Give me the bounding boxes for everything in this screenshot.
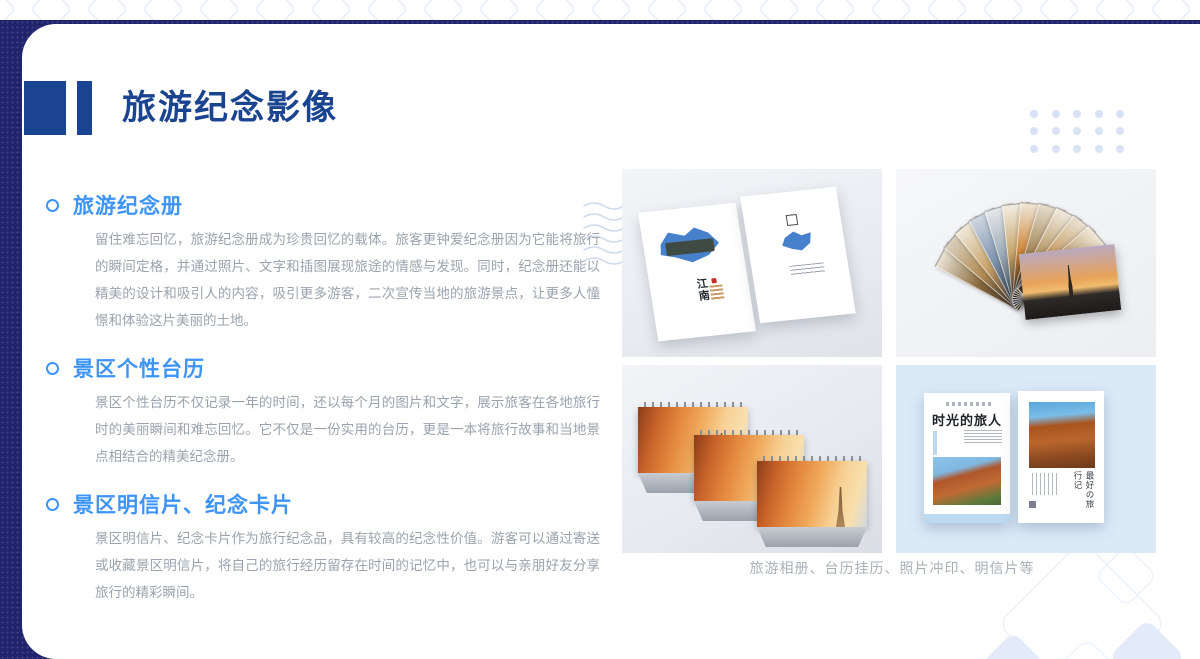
dot-grid-decoration: [1030, 110, 1138, 162]
section-header: 景区个性台历: [46, 357, 606, 380]
section-body: 景区个性台历不仅记录一年的时间，还以每个月的图片和文字，展示旅客在各地旅行时的美…: [95, 390, 600, 471]
section-title: 旅游纪念册: [73, 194, 183, 217]
dot-icon: [1116, 145, 1124, 153]
dot-icon: [1073, 110, 1081, 118]
rounded-diamond-icon: [1094, 0, 1136, 20]
book-accent-strip: [933, 431, 937, 455]
page-title: 旅游纪念影像: [122, 91, 338, 125]
dot-icon: [1073, 127, 1081, 135]
photo-book-title-right: 最好の旅行记: [1071, 471, 1095, 515]
dot-icon: [1030, 110, 1038, 118]
section-travel-album: 旅游纪念册 留住难忘回忆，旅游纪念册成为珍贵回忆的载体。旅客更钟爱纪念册因为它能…: [46, 194, 606, 335]
red-seal-icon: [711, 278, 717, 283]
watercolor-splash: [777, 227, 817, 256]
title-accent-block-large: [24, 81, 66, 135]
rounded-diamond-icon: [310, 0, 352, 20]
gallery-image-travel-album[interactable]: 江 南: [622, 169, 882, 357]
rounded-diamond-icon: [30, 0, 72, 20]
rounded-diamond-icon: [1109, 619, 1185, 659]
rounded-diamond-icon: [814, 0, 856, 20]
rounded-diamond-icon: [978, 632, 1049, 659]
top-diamond-band: [0, 0, 1200, 20]
album-back-text: [790, 262, 825, 275]
rounded-diamond-icon: [982, 0, 1024, 20]
book-body-text: [964, 430, 1002, 443]
rounded-diamond-icon: [366, 0, 408, 20]
dot-icon: [1095, 145, 1103, 153]
ring-bullet-icon: [46, 498, 59, 511]
rounded-diamond-icon: [198, 0, 240, 20]
eiffel-tower-icon: [836, 487, 845, 527]
book-logo-icon: [1029, 501, 1036, 508]
dot-icon: [1052, 110, 1060, 118]
book-top-text: [946, 402, 994, 406]
book-side-text: [1032, 473, 1058, 495]
rounded-diamond-icon: [534, 0, 576, 20]
book-bottom-band: [924, 514, 1010, 523]
rounded-diamond-icon: [1038, 0, 1080, 20]
ring-bullet-icon: [46, 362, 59, 375]
rounded-diamond-icon: [422, 0, 464, 20]
section-header: 旅游纪念册: [46, 194, 606, 217]
rounded-diamond-icon: [1038, 638, 1137, 659]
rounded-diamond-icon: [702, 0, 744, 20]
dot-icon: [1030, 145, 1038, 153]
dot-icon: [1116, 127, 1124, 135]
dot-icon: [1073, 145, 1081, 153]
dot-icon: [1052, 145, 1060, 153]
rounded-diamond-icon: [0, 0, 16, 20]
content-card: 旅游纪念影像 旅游纪念册: [22, 24, 1200, 659]
seal-square-icon: [786, 214, 799, 226]
calendar-stand: [757, 527, 867, 547]
dot-icon: [1095, 110, 1103, 118]
album-cover-sub: [709, 284, 724, 301]
rounded-diamond-icon: [1150, 0, 1192, 20]
section-title: 景区个性台历: [73, 357, 205, 380]
section-header: 景区明信片、纪念卡片: [46, 493, 606, 516]
rounded-diamond-icon: [646, 0, 688, 20]
album-cover-front: 江 南: [638, 203, 756, 342]
rounded-diamond-icon: [478, 0, 520, 20]
page-title-row: 旅游纪念影像: [24, 76, 338, 140]
gallery-image-photo-prints[interactable]: [896, 169, 1156, 357]
rounded-diamond-icon: [86, 0, 128, 20]
tower-silhouette-icon: [1064, 265, 1076, 302]
slide-canvas: 旅游纪念影像 旅游纪念册: [0, 0, 1200, 659]
rounded-diamond-icon: [590, 0, 632, 20]
gallery-caption: 旅游相册、台历挂历、照片冲印、明信片等: [622, 558, 1162, 578]
section-body: 景区明信片、纪念卡片作为旅行纪念品，具有较高的纪念性价值。游客可以通过寄送或收藏…: [95, 526, 600, 607]
dot-icon: [1052, 127, 1060, 135]
book-cover-photo-right: [1029, 402, 1095, 468]
gallery-image-desk-calendars[interactable]: [622, 365, 882, 553]
gallery-image-photo-books[interactable]: 时光的旅人 最好の旅行记: [896, 365, 1156, 553]
book-cover-photo-left: [933, 457, 1001, 505]
section-body: 留住难忘回忆，旅游纪念册成为珍贵回忆的载体。旅客更钟爱纪念册因为它能将旅行的瞬间…: [95, 227, 600, 335]
photo-print-front: [1019, 244, 1121, 320]
photo-book-right: 最好の旅行记: [1018, 391, 1104, 523]
sections-list: 旅游纪念册 留住难忘回忆，旅游纪念册成为珍贵回忆的载体。旅客更钟爱纪念册因为它能…: [46, 194, 606, 629]
dot-icon: [1030, 127, 1038, 135]
section-postcard: 景区明信片、纪念卡片 景区明信片、纪念卡片作为旅行纪念品，具有较高的纪念性价值。…: [46, 493, 606, 607]
rounded-diamond-icon: [254, 0, 296, 20]
ring-bullet-icon: [46, 199, 59, 212]
rounded-diamond-icon: [926, 0, 968, 20]
rounded-diamond-icon: [142, 0, 184, 20]
rounded-diamond-icon: [758, 0, 800, 20]
section-title: 景区明信片、纪念卡片: [73, 493, 293, 516]
gallery-grid: 江 南: [622, 169, 1162, 553]
dot-icon: [1095, 127, 1103, 135]
album-cover-title: 南: [698, 290, 711, 302]
calendar-photo: [757, 461, 867, 527]
album-cover-back: [740, 187, 856, 323]
photo-book-title-left: 时光的旅人: [932, 410, 1004, 429]
title-accent-block-small: [77, 81, 92, 135]
rounded-diamond-icon: [870, 0, 912, 20]
section-desk-calendar: 景区个性台历 景区个性台历不仅记录一年的时间，还以每个月的图片和文字，展示旅客在…: [46, 357, 606, 471]
dot-icon: [1116, 110, 1124, 118]
desk-calendar: [757, 461, 867, 547]
photo-book-left: 时光的旅人: [924, 393, 1010, 523]
